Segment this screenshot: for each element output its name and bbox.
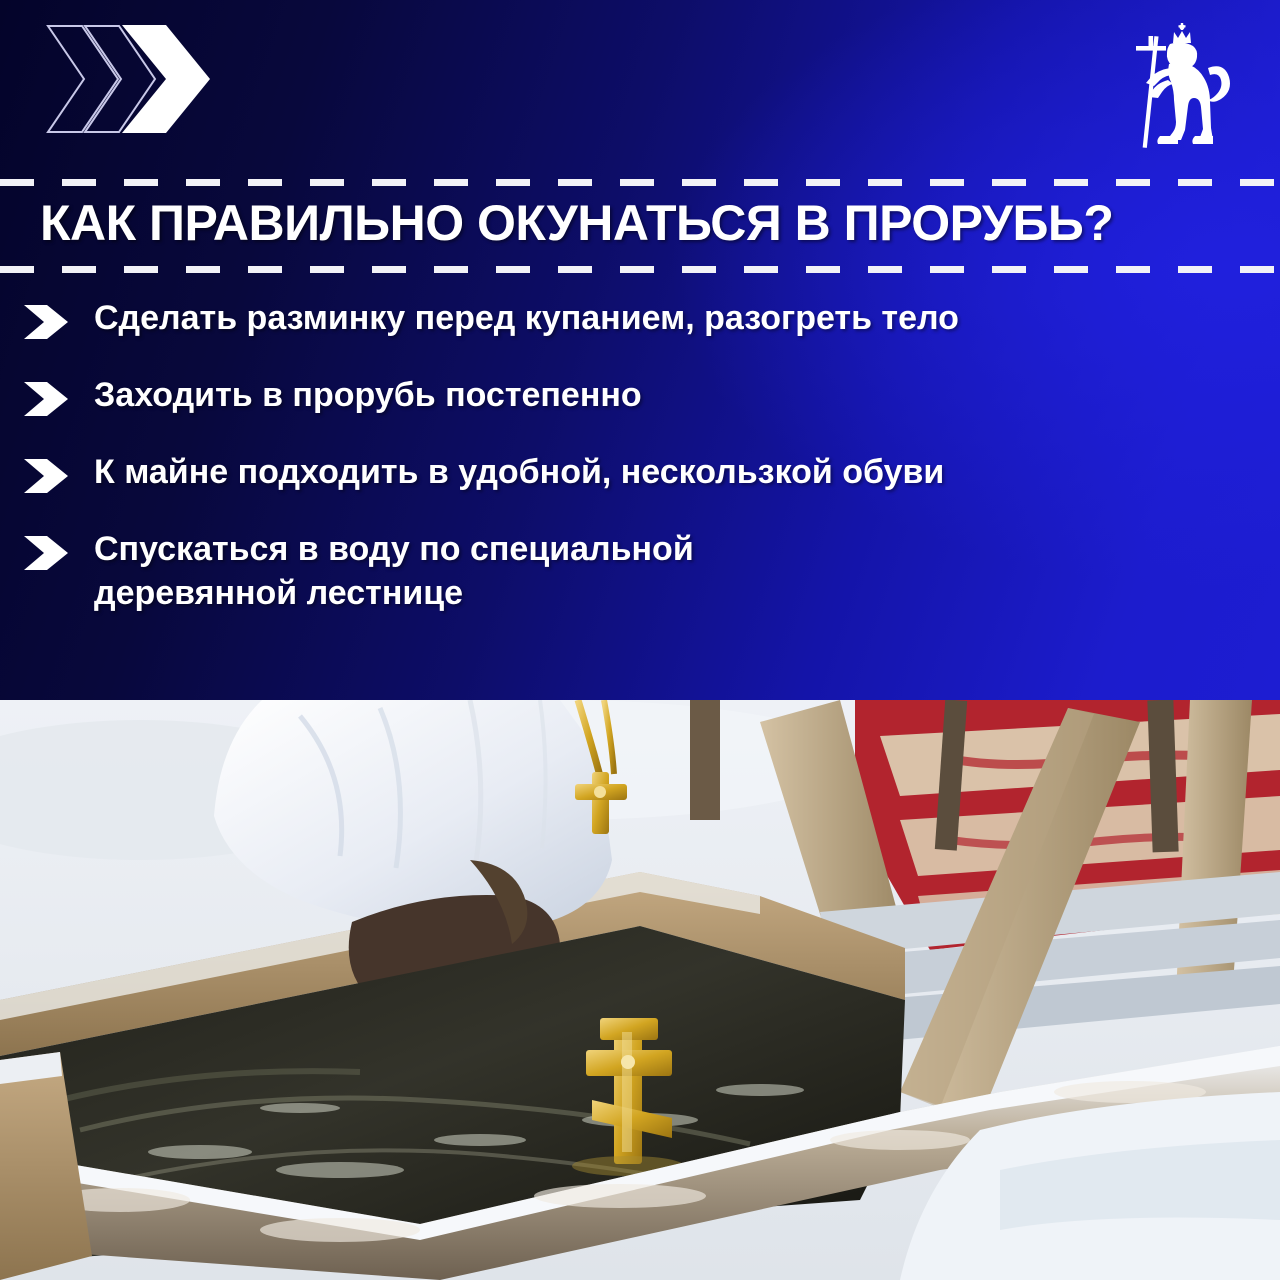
triple-chevron-logo	[46, 24, 231, 134]
list-item-label: К майне подходить в удобной, нескользкой…	[94, 450, 944, 494]
list-item-label: Сделать разминку перед купанием, разогре…	[94, 296, 959, 340]
chevron-solid-3	[122, 25, 210, 133]
chevron-bullet-icon	[22, 534, 70, 572]
list-item: Спускаться в воду по специальной деревян…	[0, 527, 1280, 615]
page-title: КАК ПРАВИЛЬНО ОКУНАТЬСЯ В ПРОРУБЬ?	[40, 191, 1270, 257]
list-item-label: Спускаться в воду по специальной деревян…	[94, 527, 854, 615]
infographic-poster: КАК ПРАВИЛЬНО ОКУНАТЬСЯ В ПРОРУБЬ? Сдела…	[0, 0, 1280, 1280]
list-item: Заходить в прорубь постепенно	[0, 373, 1280, 418]
chevron-bullet-icon	[22, 457, 70, 495]
ice-hole-baptism-photo	[0, 700, 1280, 1280]
vladimir-lion-emblem-icon	[1112, 18, 1238, 158]
chevron-outline-1	[48, 26, 118, 132]
dashed-divider-top	[0, 179, 1280, 186]
brand-header	[0, 0, 1280, 182]
info-panel: КАК ПРАВИЛЬНО ОКУНАТЬСЯ В ПРОРУБЬ? Сдела…	[0, 0, 1280, 700]
list-item-label: Заходить в прорубь постепенно	[94, 373, 642, 417]
list-item: К майне подходить в удобной, нескользкой…	[0, 450, 1280, 495]
dashed-divider-bottom	[0, 266, 1280, 273]
chevron-bullet-icon	[22, 380, 70, 418]
tips-list: Сделать разминку перед купанием, разогре…	[0, 296, 1280, 615]
chevron-bullet-icon	[22, 303, 70, 341]
list-item: Сделать разминку перед купанием, разогре…	[0, 296, 1280, 341]
